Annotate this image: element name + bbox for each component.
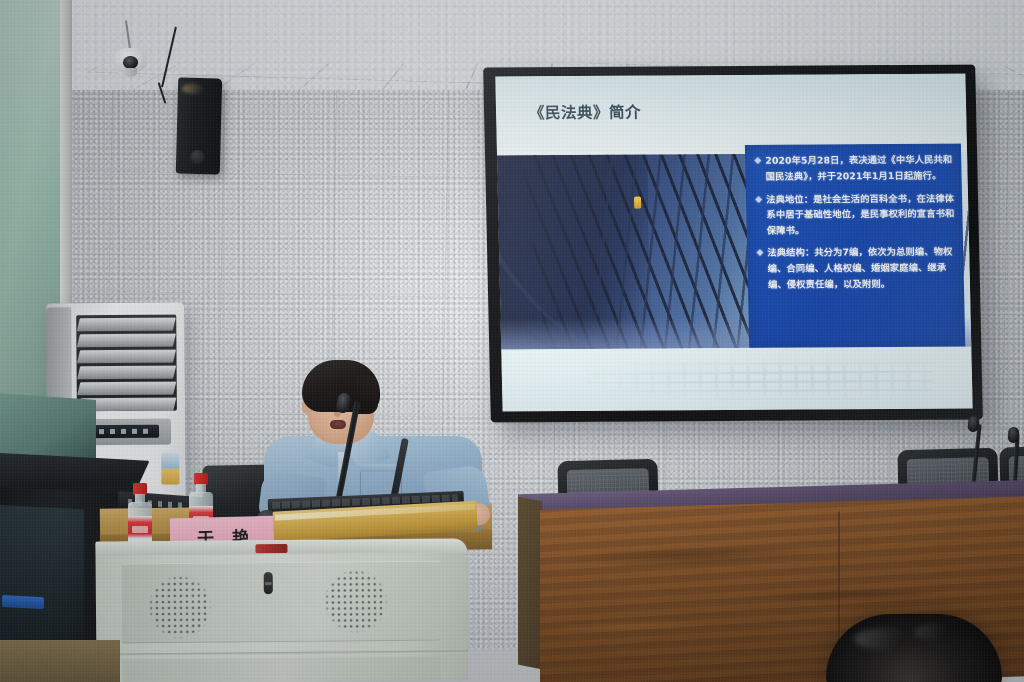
slide-bullet-panel: ◆ 2020年5月28日，表决通过《中华人民共和国民法典》，并于2021年1月1… <box>745 144 966 350</box>
ac-energy-label <box>161 453 179 485</box>
presentation-display[interactable]: 《民法典》简介 ◆ 2020年5月28日，表决通过《中华人民共和国民法典》，并于… <box>483 65 983 423</box>
bullet-diamond-icon: ◆ <box>756 246 764 293</box>
hair-highlight-secondary <box>914 624 956 640</box>
slide-bullet-2: ◆ 法典地位：是社会生活的百科全书，在法律体系中居于基础性地位，是民事权利的宣言… <box>755 191 955 239</box>
dome-camera-icon <box>113 48 147 78</box>
bullet-diamond-icon: ◆ <box>755 192 763 239</box>
conference-room-photo: 《民法典》简介 ◆ 2020年5月28日，表决通过《中华人民共和国民法典》，并于… <box>0 0 1024 682</box>
wall-speaker-icon <box>176 77 222 174</box>
ac-vent-louvers <box>76 315 177 412</box>
slide-title: 《民法典》简介 <box>529 101 642 124</box>
ac-display <box>93 425 159 438</box>
speaker-highlight <box>182 84 204 95</box>
ac-control-panel[interactable] <box>83 419 171 446</box>
table-microphone-head <box>1008 427 1020 444</box>
lectern-speaker-grille-left <box>148 575 213 640</box>
rack-glass-door <box>0 505 84 650</box>
lectern-speaker-grille-right <box>324 569 389 634</box>
slide-bullet-1: ◆ 2020年5月28日，表决通过《中华人民共和国民法典》，并于2021年1月1… <box>754 153 954 185</box>
bullet-diamond-icon: ◆ <box>754 154 762 185</box>
lectern-lock-icon[interactable] <box>264 572 273 594</box>
camera-mount <box>124 68 137 77</box>
slide-footer-faint-text <box>586 355 935 402</box>
bullet-text: 法典结构：共分为7编，依次为总则编、物权编、合同编、人格权编、婚姻家庭编、继承编… <box>767 245 956 293</box>
lectern-badge <box>255 544 287 553</box>
table-left-side <box>518 497 542 670</box>
slide-bullet-3: ◆ 法典结构：共分为7编，依次为总则编、物权编、合同编、人格权编、婚姻家庭编、继… <box>756 245 956 293</box>
photo-detail-marker <box>634 197 641 209</box>
lectern <box>95 538 468 682</box>
display-screen[interactable]: 《民法典》简介 ◆ 2020年5月28日，表决通过《中华人民共和国民法典》，并于… <box>495 74 972 412</box>
hair-highlight <box>854 628 918 650</box>
speaker-driver <box>190 150 204 164</box>
slide-footer-band <box>501 347 972 412</box>
rack-blue-item <box>2 595 44 609</box>
lectern-lower-panel <box>122 657 440 682</box>
bullet-text: 2020年5月28日，表决通过《中华人民共和国民法典》，并于2021年1月1日起… <box>765 153 954 185</box>
presenter-mouth <box>330 420 346 429</box>
floor-strip <box>0 640 120 682</box>
bullet-text: 法典地位：是社会生活的百科全书，在法律体系中居于基础性地位，是民事权利的宣言书和… <box>766 191 955 239</box>
